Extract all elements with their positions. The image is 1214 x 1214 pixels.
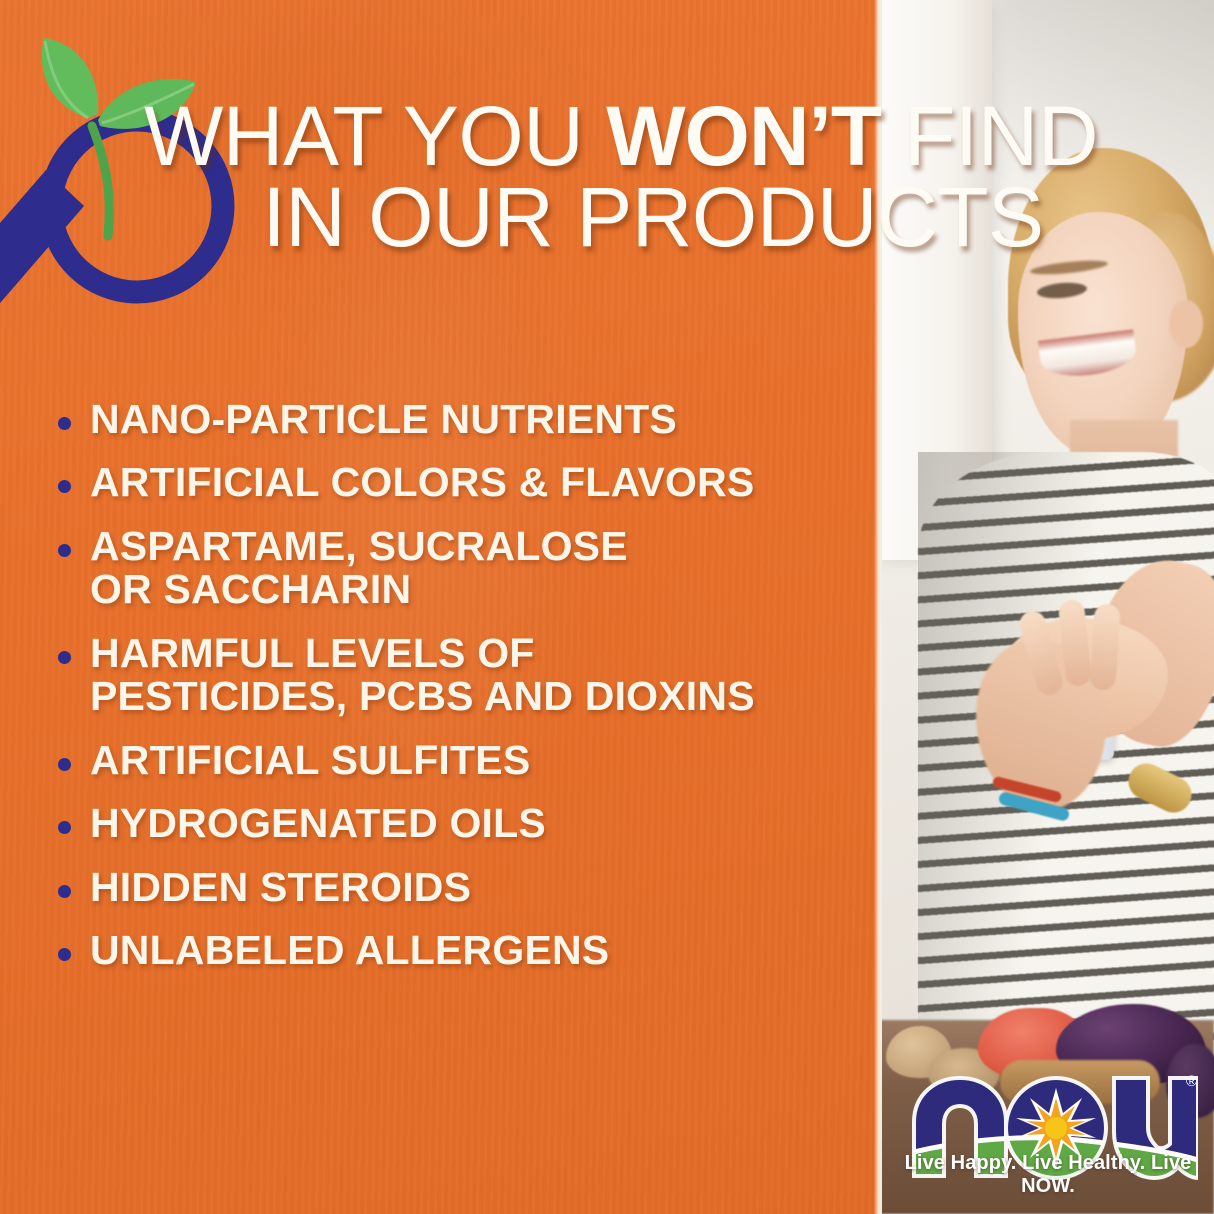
bullet-dot-icon xyxy=(58,821,71,834)
bullet-dot-icon xyxy=(58,544,71,557)
bullet-dot-icon xyxy=(58,948,71,961)
bullet-dot-icon xyxy=(58,885,71,898)
headline-text-a: WHAT YOU xyxy=(144,89,606,183)
headline-text-b: FIND xyxy=(881,89,1098,183)
headline: WHAT YOU WON’T FIND IN OUR PRODUCTS xyxy=(0,96,1214,259)
list-item: HIDDEN STEROIDS xyxy=(58,866,878,909)
bullet-dot-icon xyxy=(58,651,71,664)
logo-tagline: Live Happy. Live Healthy. Live NOW. xyxy=(898,1152,1198,1198)
bullet-dot-icon xyxy=(58,417,71,430)
list-item-label: HARMFUL LEVELS OF PESTICIDES, PCBS AND D… xyxy=(90,632,755,719)
exclusion-list: NANO-PARTICLE NUTRIENTS ARTIFICIAL COLOR… xyxy=(58,398,878,993)
registered-trademark-mark: ® xyxy=(1186,1073,1197,1090)
list-item: UNLABELED ALLERGENS xyxy=(58,929,878,972)
bullet-dot-icon xyxy=(58,758,71,771)
list-item-label: HIDDEN STEROIDS xyxy=(90,866,471,909)
list-item: ARTIFICIAL SULFITES xyxy=(58,739,878,782)
promo-graphic: WHAT YOU WON’T FIND IN OUR PRODUCTS NANO… xyxy=(0,0,1214,1214)
list-item-label: ARTIFICIAL COLORS & FLAVORS xyxy=(90,461,754,504)
bullet-dot-icon xyxy=(58,480,71,493)
headline-line-1: WHAT YOU WON’T FIND xyxy=(0,96,1214,177)
headline-emphasis-wont: WON’T xyxy=(606,89,881,183)
list-item: HARMFUL LEVELS OF PESTICIDES, PCBS AND D… xyxy=(58,632,878,719)
list-item: NANO-PARTICLE NUTRIENTS xyxy=(58,398,878,441)
headline-line-2: IN OUR PRODUCTS xyxy=(0,177,1214,258)
list-item: HYDROGENATED OILS xyxy=(58,802,878,845)
list-item-label: ASPARTAME, SUCRALOSE OR SACCHARIN xyxy=(90,525,628,612)
photo-woman-ear xyxy=(1169,300,1203,348)
list-item-label: HYDROGENATED OILS xyxy=(90,802,546,845)
list-item-label: NANO-PARTICLE NUTRIENTS xyxy=(90,398,677,441)
list-item: ASPARTAME, SUCRALOSE OR SACCHARIN xyxy=(58,525,878,612)
list-item-label: UNLABELED ALLERGENS xyxy=(90,929,609,972)
list-item-label: ARTIFICIAL SULFITES xyxy=(90,739,530,782)
list-item: ARTIFICIAL COLORS & FLAVORS xyxy=(58,461,878,504)
